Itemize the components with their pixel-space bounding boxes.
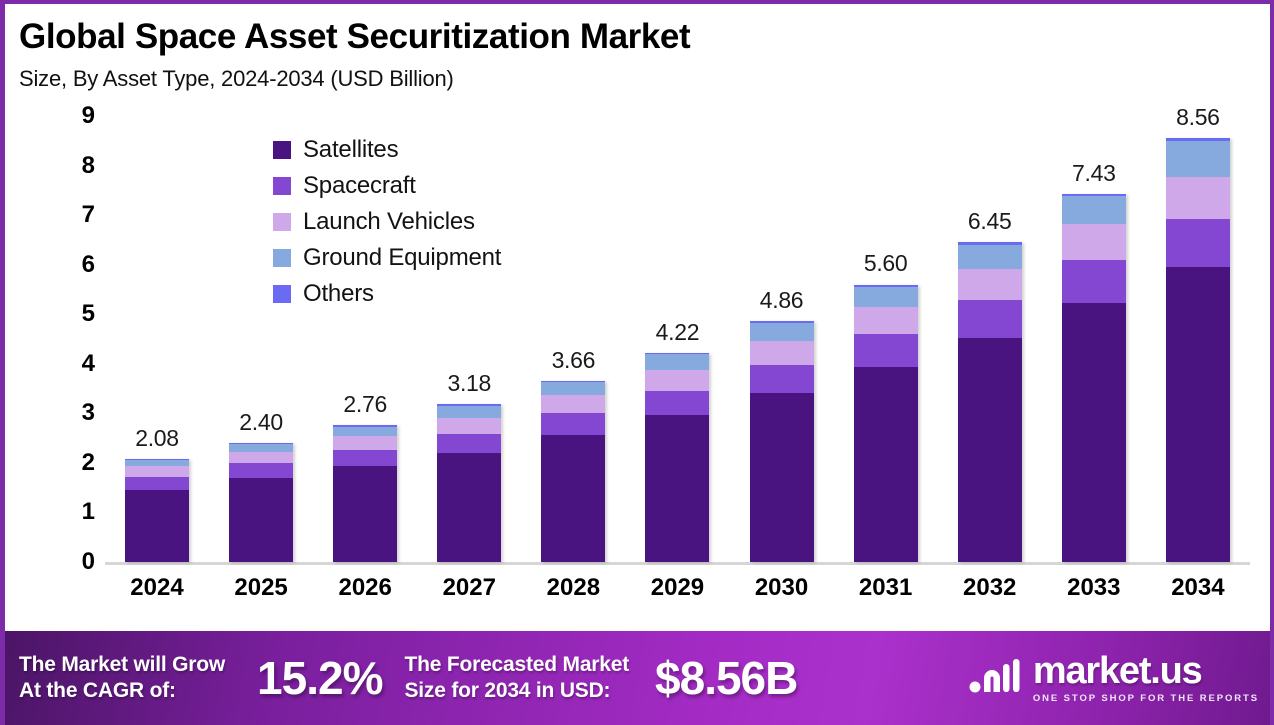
legend-item-label: Ground Equipment — [303, 244, 501, 272]
bar-segment-satellites[interactable] — [541, 435, 605, 562]
stacked-bar[interactable] — [1062, 194, 1126, 562]
bar-segment-launch-vehicles[interactable] — [645, 370, 709, 391]
bar-segment-ground-equipment[interactable] — [645, 354, 709, 369]
legend-swatch-icon — [273, 213, 291, 231]
bar-group-2034[interactable]: 8.562034 — [1146, 116, 1250, 562]
bar-total-label: 7.43 — [1042, 160, 1146, 187]
bar-segment-launch-vehicles[interactable] — [854, 307, 918, 334]
bar-segment-launch-vehicles[interactable] — [125, 466, 189, 476]
stacked-bar[interactable] — [1166, 138, 1230, 562]
bar-segment-ground-equipment[interactable] — [854, 287, 918, 307]
stacked-bar[interactable] — [541, 381, 605, 562]
y-axis-tick-0: 0 — [61, 548, 95, 576]
legend-swatch-icon — [273, 141, 291, 159]
bar-group-2033[interactable]: 7.432033 — [1042, 116, 1146, 562]
y-axis-tick-6: 6 — [61, 251, 95, 279]
bar-segment-ground-equipment[interactable] — [750, 323, 814, 341]
bar-segment-spacecraft[interactable] — [958, 300, 1022, 338]
legend-item-spacecraft[interactable]: Spacecraft — [273, 168, 501, 204]
bar-segment-spacecraft[interactable] — [1062, 260, 1126, 303]
y-axis-tick-4: 4 — [61, 350, 95, 378]
x-axis-baseline — [105, 562, 1250, 565]
bar-segment-satellites[interactable] — [1062, 303, 1126, 562]
forecast-value: $8.56B — [655, 651, 797, 705]
y-axis-tick-5: 5 — [61, 300, 95, 328]
bar-group-2029[interactable]: 4.222029 — [625, 116, 729, 562]
bar-segment-satellites[interactable] — [333, 466, 397, 562]
bar-segment-satellites[interactable] — [958, 338, 1022, 562]
bar-segment-satellites[interactable] — [437, 453, 501, 562]
chart-plot-area: 0123456789 2.0820242.4020252.7620263.182… — [5, 116, 1274, 626]
legend-item-ground-equipment[interactable]: Ground Equipment — [273, 240, 501, 276]
bar-segment-ground-equipment[interactable] — [229, 444, 293, 451]
cagr-value: 15.2% — [257, 651, 382, 705]
y-axis-tick-2: 2 — [61, 449, 95, 477]
bar-segment-launch-vehicles[interactable] — [958, 269, 1022, 300]
bar-segment-satellites[interactable] — [125, 490, 189, 562]
x-axis-label-2026: 2026 — [313, 574, 417, 602]
bar-segment-spacecraft[interactable] — [1166, 219, 1230, 268]
page-title: Global Space Asset Securitization Market — [19, 18, 1270, 57]
chart-legend: SatellitesSpacecraftLaunch VehiclesGroun… — [273, 132, 501, 312]
bar-segment-ground-equipment[interactable] — [437, 406, 501, 418]
stacked-bar[interactable] — [333, 425, 397, 562]
bar-group-2030[interactable]: 4.862030 — [730, 116, 834, 562]
bar-group-2024[interactable]: 2.082024 — [105, 116, 209, 562]
bar-total-label: 5.60 — [834, 250, 938, 277]
stacked-bar[interactable] — [125, 459, 189, 562]
brand-logo[interactable]: market.us ONE STOP SHOP FOR THE REPORTS — [969, 652, 1259, 704]
bar-segment-spacecraft[interactable] — [333, 450, 397, 466]
bar-total-label: 3.66 — [521, 347, 625, 374]
bar-segment-spacecraft[interactable] — [645, 391, 709, 416]
bar-total-label: 2.08 — [105, 425, 209, 452]
bar-segment-launch-vehicles[interactable] — [1166, 177, 1230, 218]
bar-segment-spacecraft[interactable] — [541, 413, 605, 434]
bar-segment-ground-equipment[interactable] — [1062, 196, 1126, 224]
stacked-bar[interactable] — [750, 321, 814, 562]
bar-total-label: 2.76 — [313, 391, 417, 418]
market-us-bars-icon — [969, 656, 1023, 701]
x-axis-label-2030: 2030 — [730, 574, 834, 602]
logo-tagline: ONE STOP SHOP FOR THE REPORTS — [1033, 693, 1259, 704]
bar-segment-spacecraft[interactable] — [229, 463, 293, 477]
cagr-caption-line1: The Market will Grow — [19, 652, 225, 678]
stacked-bar[interactable] — [645, 353, 709, 562]
footer-banner: The Market will Grow At the CAGR of: 15.… — [5, 631, 1274, 725]
bar-total-label: 8.56 — [1146, 104, 1250, 131]
x-axis-label-2027: 2027 — [417, 574, 521, 602]
bar-total-label: 6.45 — [938, 208, 1042, 235]
x-axis-label-2028: 2028 — [521, 574, 625, 602]
forecast-caption: The Forecasted Market Size for 2034 in U… — [404, 652, 629, 703]
y-axis-tick-8: 8 — [61, 152, 95, 180]
bar-segment-satellites[interactable] — [750, 393, 814, 562]
bar-segment-satellites[interactable] — [854, 367, 918, 562]
legend-item-satellites[interactable]: Satellites — [273, 132, 501, 168]
bar-segment-launch-vehicles[interactable] — [437, 418, 501, 434]
y-axis-tick-1: 1 — [61, 498, 95, 526]
forecast-caption-line2: Size for 2034 in USD: — [404, 678, 629, 704]
bar-segment-satellites[interactable] — [1166, 267, 1230, 562]
legend-item-label: Others — [303, 280, 374, 308]
stacked-bar[interactable] — [958, 242, 1022, 562]
cagr-caption: The Market will Grow At the CAGR of: — [19, 652, 225, 703]
page-subtitle: Size, By Asset Type, 2024-2034 (USD Bill… — [19, 66, 1270, 92]
bar-total-label: 4.22 — [625, 319, 729, 346]
stacked-bar[interactable] — [854, 285, 918, 562]
legend-swatch-icon — [273, 249, 291, 267]
y-axis-tick-3: 3 — [61, 399, 95, 427]
legend-item-label: Spacecraft — [303, 172, 416, 200]
bar-segment-spacecraft[interactable] — [854, 334, 918, 367]
bar-segment-spacecraft[interactable] — [437, 434, 501, 453]
bar-segment-launch-vehicles[interactable] — [750, 341, 814, 365]
x-axis-label-2024: 2024 — [105, 574, 209, 602]
bar-segment-ground-equipment[interactable] — [333, 427, 397, 436]
bar-segment-launch-vehicles[interactable] — [229, 452, 293, 464]
bar-total-label: 3.18 — [417, 370, 521, 397]
bar-segment-ground-equipment[interactable] — [541, 382, 605, 395]
bar-group-2032[interactable]: 6.452032 — [938, 116, 1042, 562]
x-axis-label-2032: 2032 — [938, 574, 1042, 602]
legend-swatch-icon — [273, 177, 291, 195]
logo-name: market.us — [1033, 652, 1259, 690]
bar-segment-satellites[interactable] — [645, 415, 709, 562]
y-axis-tick-9: 9 — [61, 102, 95, 130]
chart-header: Global Space Asset Securitization Market… — [5, 4, 1270, 92]
bar-total-label: 2.40 — [209, 409, 313, 436]
x-axis-label-2033: 2033 — [1042, 574, 1146, 602]
legend-item-label: Satellites — [303, 136, 398, 164]
bar-segment-launch-vehicles[interactable] — [333, 436, 397, 450]
bar-segment-satellites[interactable] — [229, 478, 293, 562]
x-axis-label-2034: 2034 — [1146, 574, 1250, 602]
bar-segment-launch-vehicles[interactable] — [1062, 224, 1126, 260]
legend-item-label: Launch Vehicles — [303, 208, 475, 236]
legend-item-launch-vehicles[interactable]: Launch Vehicles — [273, 204, 501, 240]
y-axis-tick-7: 7 — [61, 201, 95, 229]
bar-segment-ground-equipment[interactable] — [958, 245, 1022, 269]
logo-text-block: market.us ONE STOP SHOP FOR THE REPORTS — [1033, 652, 1259, 704]
bar-group-2028[interactable]: 3.662028 — [521, 116, 625, 562]
stacked-bar[interactable] — [229, 443, 293, 562]
x-axis-label-2031: 2031 — [834, 574, 938, 602]
bar-segment-spacecraft[interactable] — [750, 365, 814, 393]
forecast-caption-line1: The Forecasted Market — [404, 652, 629, 678]
bar-group-2031[interactable]: 5.602031 — [834, 116, 938, 562]
infographic-frame: Global Space Asset Securitization Market… — [0, 0, 1274, 725]
legend-swatch-icon — [273, 285, 291, 303]
y-axis: 0123456789 — [61, 116, 95, 562]
bar-segment-launch-vehicles[interactable] — [541, 395, 605, 413]
x-axis-label-2025: 2025 — [209, 574, 313, 602]
bar-total-label: 4.86 — [730, 287, 834, 314]
legend-item-others[interactable]: Others — [273, 276, 501, 312]
cagr-caption-line2: At the CAGR of: — [19, 678, 225, 704]
stacked-bar[interactable] — [437, 404, 501, 562]
bar-segment-spacecraft[interactable] — [125, 477, 189, 490]
x-axis-label-2029: 2029 — [625, 574, 729, 602]
bar-segment-ground-equipment[interactable] — [1166, 141, 1230, 178]
